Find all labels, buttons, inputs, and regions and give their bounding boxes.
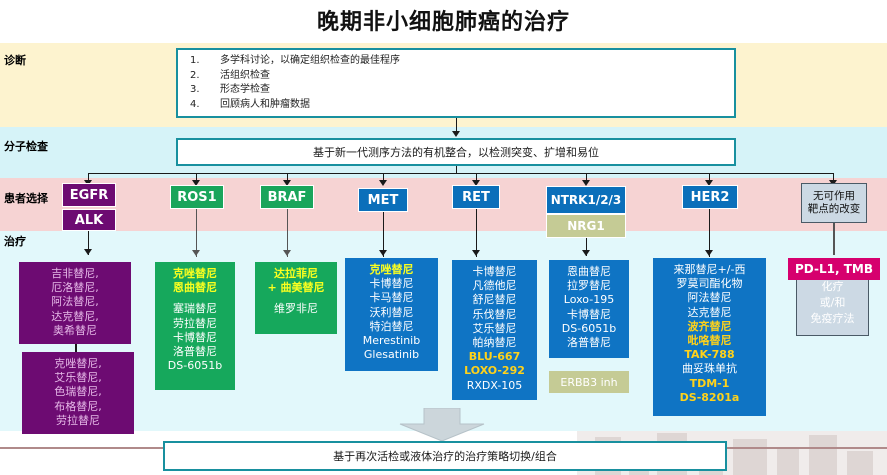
treatment-box-ret[interactable]: 卡博替尼 凡德他尼 舒尼替尼 乐伐替尼 艾乐替尼 帕纳替尼 BLU-667 LO… (452, 260, 537, 400)
gene-chip-ntrk[interactable]: NTRK1/2/3 (546, 186, 626, 214)
treatment-line: 曲妥珠单抗 (657, 362, 762, 376)
diagnosis-box: 1.多学科讨论，以确定组织检查的最佳程序 2.活组织检查 3.形态学检查 4.回… (176, 48, 736, 118)
treatment-line-highlight: DS-8201a (657, 391, 762, 405)
connector-diagnosis-to-molecular (456, 118, 457, 132)
list-item-label: 多学科讨论，以确定组织检查的最佳程序 (220, 55, 400, 66)
arrowhead-egfr-treatment (84, 249, 92, 255)
connector-no-target-to-chemo (833, 223, 835, 255)
row-label-treatment: 治疗 (4, 233, 26, 249)
arrowhead-molecular (452, 131, 460, 137)
arrowhead-ntrk-treatment (582, 250, 590, 256)
treatment-line: 奥希替尼 (23, 324, 127, 338)
treatment-line: 卡博替尼 (349, 277, 434, 291)
treatment-line: 卡马替尼 (349, 291, 434, 305)
treatment-line: DS-6051b (553, 322, 625, 336)
list-item-label: 形态学检查 (220, 84, 270, 95)
treatment-line: 恩曲替尼 (553, 265, 625, 279)
down-arrow-icon (396, 408, 488, 441)
treatment-line: 阿法替尼, (23, 295, 127, 309)
no-target-line-2: 靶点的改变 (808, 203, 861, 216)
treatment-line: 布格替尼, (26, 400, 130, 414)
bottom-strategy-box: 基于再次活检或液体治疗的治疗策略切换/组合 (163, 441, 727, 471)
gene-chip-ros1[interactable]: ROS1 (170, 185, 224, 209)
treatment-line: Loxo-195 (553, 293, 625, 307)
arrowhead-her2-treatment (705, 250, 713, 256)
treatment-line: 洛普替尼 (553, 336, 625, 350)
treatment-box-alk[interactable]: 克唑替尼, 艾乐替尼, 色瑞替尼, 布格替尼, 劳拉替尼 (22, 352, 134, 434)
list-item: 4.回顾病人和肿瘤数据 (220, 98, 734, 113)
arrowhead-ret-treatment (472, 250, 480, 256)
band-patient (0, 178, 887, 231)
treatment-line: 劳拉替尼 (159, 317, 231, 331)
treatment-line: 塞瑞替尼 (159, 302, 231, 316)
gene-chip-met[interactable]: MET (358, 188, 408, 212)
row-label-patient-selection: 患者选择 (4, 190, 48, 206)
gene-chip-ret[interactable]: RET (452, 185, 500, 209)
treatment-line: 吉非替尼, (23, 267, 127, 281)
connector-egfr-to-alk-treatment (75, 344, 77, 352)
chemo-line: 或/和 (797, 295, 868, 311)
treatment-line: 艾乐替尼, (26, 371, 130, 385)
list-item-number: 3. (190, 83, 210, 98)
treatment-line: 卡博替尼 (553, 308, 625, 322)
chemo-line: 免疫疗法 (797, 311, 868, 327)
arrowhead-met (379, 180, 387, 186)
treatment-line: 阿法替尼 (657, 291, 762, 305)
treatment-line: 凡德他尼 (456, 279, 533, 293)
treatment-line: 舒尼替尼 (456, 293, 533, 307)
row-label-molecular: 分子检查 (4, 138, 48, 154)
diagnosis-list: 1.多学科讨论，以确定组织检查的最佳程序 2.活组织检查 3.形态学检查 4.回… (178, 50, 734, 112)
pdl1-tmb-badge[interactable]: PD-L1, TMB (788, 258, 880, 280)
treatment-line-highlight: + 曲美替尼 (259, 281, 333, 295)
treatment-box-egfr[interactable]: 吉非替尼, 厄洛替尼, 阿法替尼, 达克替尼, 奥希替尼 (19, 262, 131, 344)
treatment-line-highlight: 波齐替尼 (657, 320, 762, 334)
treatment-line-highlight: TDM-1 (657, 377, 762, 391)
treatment-line: 乐伐替尼 (456, 308, 533, 322)
gene-chip-braf[interactable]: BRAF (260, 185, 314, 209)
list-item: 1.多学科讨论，以确定组织检查的最佳程序 (220, 54, 734, 69)
no-target-line-1: 无可作用 (813, 190, 855, 203)
treatment-line-highlight: 达拉菲尼 (259, 267, 333, 281)
arrowhead-met-treatment (379, 250, 387, 256)
treatment-line-highlight: BLU-667 (456, 350, 533, 364)
treatment-line: 帕纳替尼 (456, 336, 533, 350)
gene-chip-nrg1[interactable]: NRG1 (546, 214, 626, 238)
treatment-line: 维罗非尼 (259, 302, 333, 316)
treatment-line: 拉罗替尼 (553, 279, 625, 293)
treatment-line: 厄洛替尼, (23, 281, 127, 295)
treatment-line: DS-6051b (159, 359, 231, 373)
treatment-box-met[interactable]: 克唑替尼 卡博替尼 卡马替尼 沃利替尼 特泊替尼 Merestinib Gles… (345, 258, 438, 371)
list-item-label: 回顾病人和肿瘤数据 (220, 99, 310, 110)
treatment-line: 沃利替尼 (349, 306, 434, 320)
flowchart-canvas: 晚期非小细胞肺癌的治疗 诊断 分子检查 患者选择 治疗 1.多学科讨论，以确定组… (0, 0, 887, 475)
treatment-line: Merestinib (349, 334, 434, 348)
page-title: 晚期非小细胞肺癌的治疗 (0, 4, 887, 36)
list-item-label: 活组织检查 (220, 70, 270, 81)
treatment-box-her2[interactable]: 来那替尼+/-西 罗莫司酯化物 阿法替尼 达克替尼 波齐替尼 吡咯替尼 TAK-… (653, 258, 766, 416)
treatment-box-ntrk[interactable]: 恩曲替尼 拉罗替尼 Loxo-195 卡博替尼 DS-6051b 洛普替尼 (549, 260, 629, 358)
arrowhead-ros1-treatment (192, 250, 200, 256)
treatment-spacer (259, 295, 333, 302)
treatment-line-highlight: LOXO-292 (456, 364, 533, 378)
treatment-box-erbb3[interactable]: ERBB3 inh (549, 371, 629, 393)
treatment-line: 罗莫司酯化物 (657, 277, 762, 291)
gene-chip-egfr[interactable]: EGFR (62, 183, 116, 207)
treatment-line: 卡博替尼 (456, 265, 533, 279)
list-item-number: 1. (190, 54, 210, 69)
treatment-box-braf[interactable]: 达拉菲尼 + 曲美替尼 维罗非尼 (255, 262, 337, 334)
list-item-number: 2. (190, 69, 210, 84)
treatment-line: 达克替尼, (23, 310, 127, 324)
row-label-diagnosis: 诊断 (4, 52, 26, 68)
list-item: 2.活组织检查 (220, 69, 734, 84)
treatment-line-highlight: 恩曲替尼 (159, 281, 231, 295)
list-item: 3.形态学检查 (220, 83, 734, 98)
gene-chip-her2[interactable]: HER2 (682, 185, 738, 209)
treatment-box-ros1[interactable]: 克唑替尼 恩曲替尼 塞瑞替尼 劳拉替尼 卡博替尼 洛普替尼 DS-6051b (155, 262, 235, 390)
treatment-line: RXDX-105 (456, 379, 533, 393)
treatment-line: 特泊替尼 (349, 320, 434, 334)
treatment-line-highlight: 克唑替尼 (159, 267, 231, 281)
treatment-line: 达克替尼 (657, 306, 762, 320)
treatment-line: 卡博替尼 (159, 331, 231, 345)
treatment-line-highlight: 克唑替尼 (349, 263, 434, 277)
treatment-line-highlight: TAK-788 (657, 348, 762, 362)
treatment-line: 洛普替尼 (159, 345, 231, 359)
treatment-line: 克唑替尼, (26, 357, 130, 371)
gene-chip-no-actionable-target[interactable]: 无可作用 靶点的改变 (801, 183, 867, 223)
treatment-line: 色瑞替尼, (26, 385, 130, 399)
list-item-number: 4. (190, 98, 210, 113)
arrowhead-braf-treatment (283, 250, 291, 256)
chemo-line: 化疗 (797, 279, 868, 295)
molecular-testing-box: 基于新一代测序方法的有机整合，以检测突变、扩增和易位 (176, 138, 736, 166)
gene-chip-alk[interactable]: ALK (62, 209, 116, 231)
treatment-line: 劳拉替尼 (26, 414, 130, 428)
bus-horizontal (88, 173, 833, 174)
treatment-line: Glesatinib (349, 348, 434, 362)
treatment-line: 艾乐替尼 (456, 322, 533, 336)
treatment-line: 来那替尼+/-西 (657, 263, 762, 277)
treatment-line-highlight: 吡咯替尼 (657, 334, 762, 348)
